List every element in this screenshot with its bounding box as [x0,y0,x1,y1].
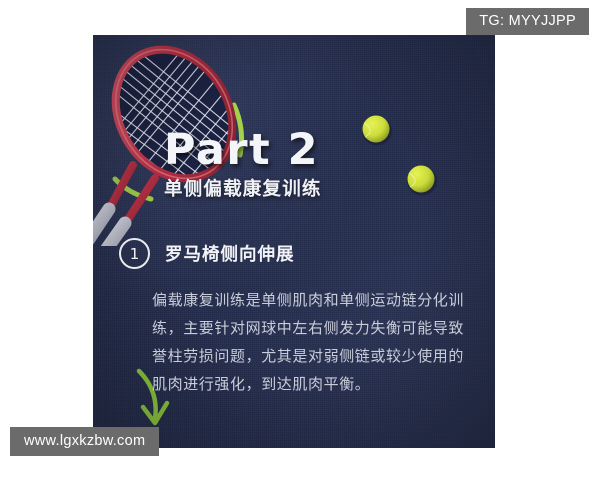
telegram-watermark-badge: TG: MYYJJPP [466,8,589,35]
poster-heading-group: Part 2 单侧偏载康复训练 [164,129,322,200]
section-body-text: 偏载康复训练是单侧肌肉和单侧运动链分化训 练，主要针对网球中左右侧发力失衡可能导… [152,286,462,398]
section-heading-row: 1 罗马椅侧向伸展 [119,238,295,269]
body-line: 偏载康复训练是单侧肌肉和单侧运动链分化训 [152,286,462,314]
body-line: 誉柱劳损问题，尤其是对弱侧链或较少使用的 [152,342,462,370]
section-heading-label: 罗马椅侧向伸展 [165,241,295,266]
poster-card: Part 2 单侧偏载康复训练 1 罗马椅侧向伸展 偏载康复训练是单侧肌肉和单侧… [93,35,495,448]
page-subtitle: 单侧偏载康复训练 [164,181,322,200]
section-number-badge: 1 [119,238,150,269]
site-watermark-badge: www.lgxkzbw.com [10,427,159,456]
body-line: 肌肉进行强化，到达肌肉平衡。 [152,370,462,398]
page-title: Part 2 [164,129,322,172]
body-line: 练，主要针对网球中左右侧发力失衡可能导致 [152,314,462,342]
tennis-balls-graphic [355,107,465,207]
tennis-ball-icon [355,107,465,207]
